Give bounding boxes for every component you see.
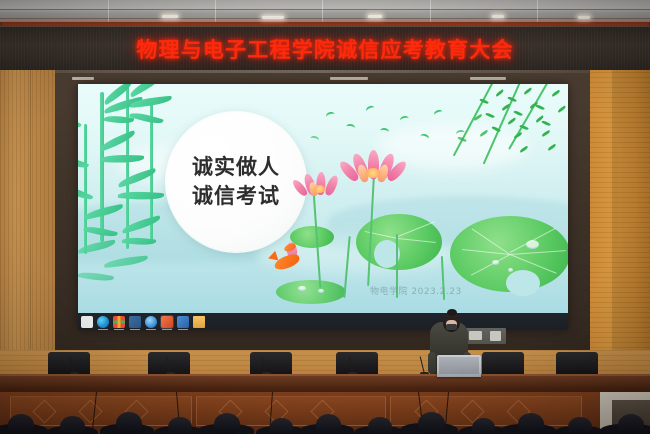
cortana-icon[interactable]: [145, 316, 157, 328]
stage-chair: [250, 352, 292, 374]
presenter-hair-bun: [447, 309, 457, 316]
recessed-ceiling-light: [368, 15, 382, 18]
slide-credit-text: 物电学院 2023.2.23: [370, 284, 462, 297]
presentation-slide: 诚实做人 诚信考试: [78, 84, 568, 313]
recessed-ceiling-light: [162, 15, 178, 18]
slide-headline-line-2: 诚信考试: [192, 184, 280, 209]
bezel-highlight: [55, 70, 590, 73]
water-droplet: [508, 268, 513, 272]
wall-sign: [466, 328, 506, 344]
slide-headline-line-1: 诚实做人: [192, 155, 280, 180]
presenter-arm-left: [428, 352, 436, 374]
stage-chair: [336, 352, 378, 374]
projector-screen: 诚实做人 诚信考试: [78, 84, 568, 330]
face-mask-icon: [446, 324, 457, 330]
start-icon[interactable]: [81, 316, 93, 328]
slide-headline-circle: 诚实做人 诚信考试: [166, 112, 306, 252]
word-icon[interactable]: [177, 316, 189, 328]
edge-icon[interactable]: [97, 316, 109, 328]
laptop-screen: [439, 357, 479, 374]
stage-chair: [556, 352, 598, 374]
lecture-hall-scene: 物理与电子工程学院诚信应考教育大会: [0, 0, 650, 434]
app-colorful-icon[interactable]: [113, 316, 125, 328]
water-droplet: [492, 260, 499, 265]
file-explorer-icon[interactable]: [193, 316, 205, 328]
led-banner-text: 物理与电子工程学院诚信应考教育大会: [0, 27, 650, 71]
app-blue-icon[interactable]: [129, 316, 141, 328]
powerpoint-icon[interactable]: [161, 316, 173, 328]
stage-chair: [48, 352, 90, 374]
water-droplet: [526, 240, 539, 249]
wall-panel-far-right: [612, 70, 650, 398]
recessed-ceiling-light: [492, 15, 504, 18]
stage-chair: [482, 352, 524, 374]
led-banner: 物理与电子工程学院诚信应考教育大会: [0, 26, 650, 73]
